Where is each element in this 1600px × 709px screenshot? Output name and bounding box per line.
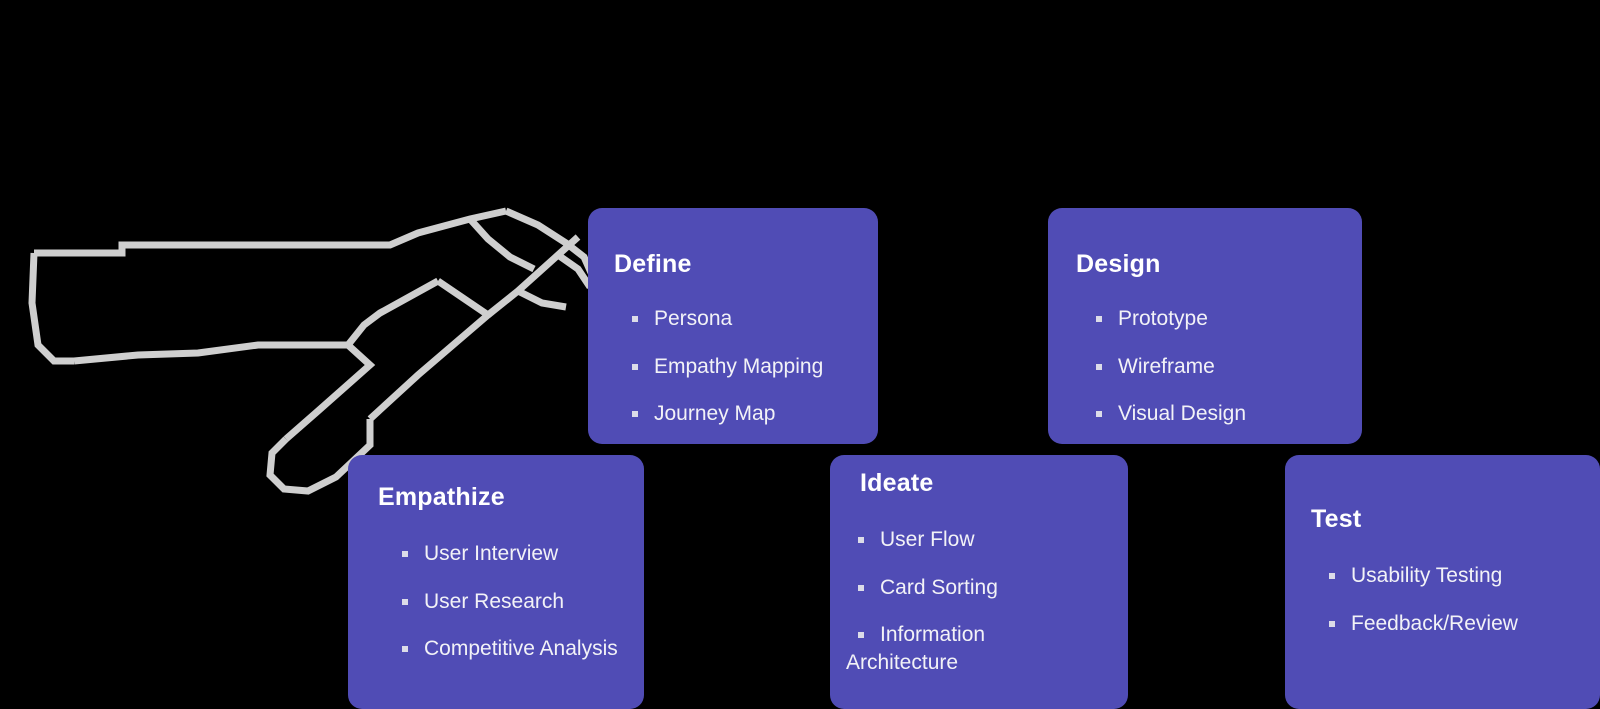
list-item-label: Empathy Mapping (654, 355, 823, 378)
bullet-square-icon (1329, 573, 1335, 579)
card-title-design: Design (1076, 250, 1362, 279)
card-ideate[interactable]: Ideate User Flow Card Sorting Informatio… (830, 455, 1128, 709)
list-item: Competitive Analysis (402, 635, 644, 663)
list-item-label: User Research (424, 590, 564, 613)
bullet-square-icon (632, 316, 638, 322)
card-title-test: Test (1311, 505, 1600, 534)
list-item-label: Usability Testing (1351, 564, 1502, 587)
card-design[interactable]: Design Prototype Wireframe Visual Design (1048, 208, 1362, 444)
bullet-square-icon (632, 364, 638, 370)
list-item: Card Sorting (858, 574, 1128, 602)
list-item-label: Information (880, 623, 985, 646)
bullet-square-icon (1096, 316, 1102, 322)
list-item: Feedback/Review (1329, 610, 1600, 638)
card-list-empathize: User Interview User Research Competitive… (402, 540, 644, 663)
list-item: Information Architecture (858, 621, 1128, 676)
card-list-test: Usability Testing Feedback/Review (1329, 562, 1600, 637)
list-item: Visual Design (1096, 400, 1362, 428)
bullet-square-icon (1329, 621, 1335, 627)
card-list-design: Prototype Wireframe Visual Design (1096, 305, 1362, 428)
bullet-square-icon (1096, 364, 1102, 370)
bullet-square-icon (402, 551, 408, 557)
list-item: Empathy Mapping (632, 353, 878, 381)
design-thinking-process-diagram: Define Persona Empathy Mapping Journey M… (0, 0, 1600, 709)
list-item: Persona (632, 305, 878, 333)
bullet-square-icon (402, 646, 408, 652)
list-item: Wireframe (1096, 353, 1362, 381)
card-test[interactable]: Test Usability Testing Feedback/Review (1285, 455, 1600, 709)
bullet-square-icon (858, 632, 864, 638)
list-item-label: Wireframe (1118, 355, 1215, 378)
list-item-label: Competitive Analysis (424, 637, 618, 660)
bullet-square-icon (858, 537, 864, 543)
list-item-label: Visual Design (1118, 402, 1246, 425)
list-item-label: Card Sorting (880, 576, 998, 599)
card-list-define: Persona Empathy Mapping Journey Map (632, 305, 878, 428)
list-item: User Interview (402, 540, 644, 568)
list-item-label: Persona (654, 307, 732, 330)
bullet-square-icon (1096, 411, 1102, 417)
card-title-ideate: Ideate (860, 469, 1128, 498)
card-title-empathize: Empathize (378, 483, 644, 512)
list-item: Usability Testing (1329, 562, 1600, 590)
list-item-label-continued: Architecture (846, 649, 1128, 677)
list-item: User Research (402, 588, 644, 616)
list-item: Journey Map (632, 400, 878, 428)
bullet-square-icon (632, 411, 638, 417)
list-item-label: Journey Map (654, 402, 775, 425)
pointing-hand-icon (18, 195, 618, 495)
bullet-square-icon (858, 585, 864, 591)
card-list-ideate: User Flow Card Sorting Information Archi… (858, 526, 1128, 677)
card-empathize[interactable]: Empathize User Interview User Research C… (348, 455, 644, 709)
card-title-define: Define (614, 250, 878, 279)
list-item: User Flow (858, 526, 1128, 554)
list-item-label: Prototype (1118, 307, 1208, 330)
card-define[interactable]: Define Persona Empathy Mapping Journey M… (588, 208, 878, 444)
list-item-label: Feedback/Review (1351, 612, 1518, 635)
list-item-label: User Flow (880, 528, 975, 551)
list-item-label: User Interview (424, 542, 558, 565)
bullet-square-icon (402, 599, 408, 605)
list-item: Prototype (1096, 305, 1362, 333)
